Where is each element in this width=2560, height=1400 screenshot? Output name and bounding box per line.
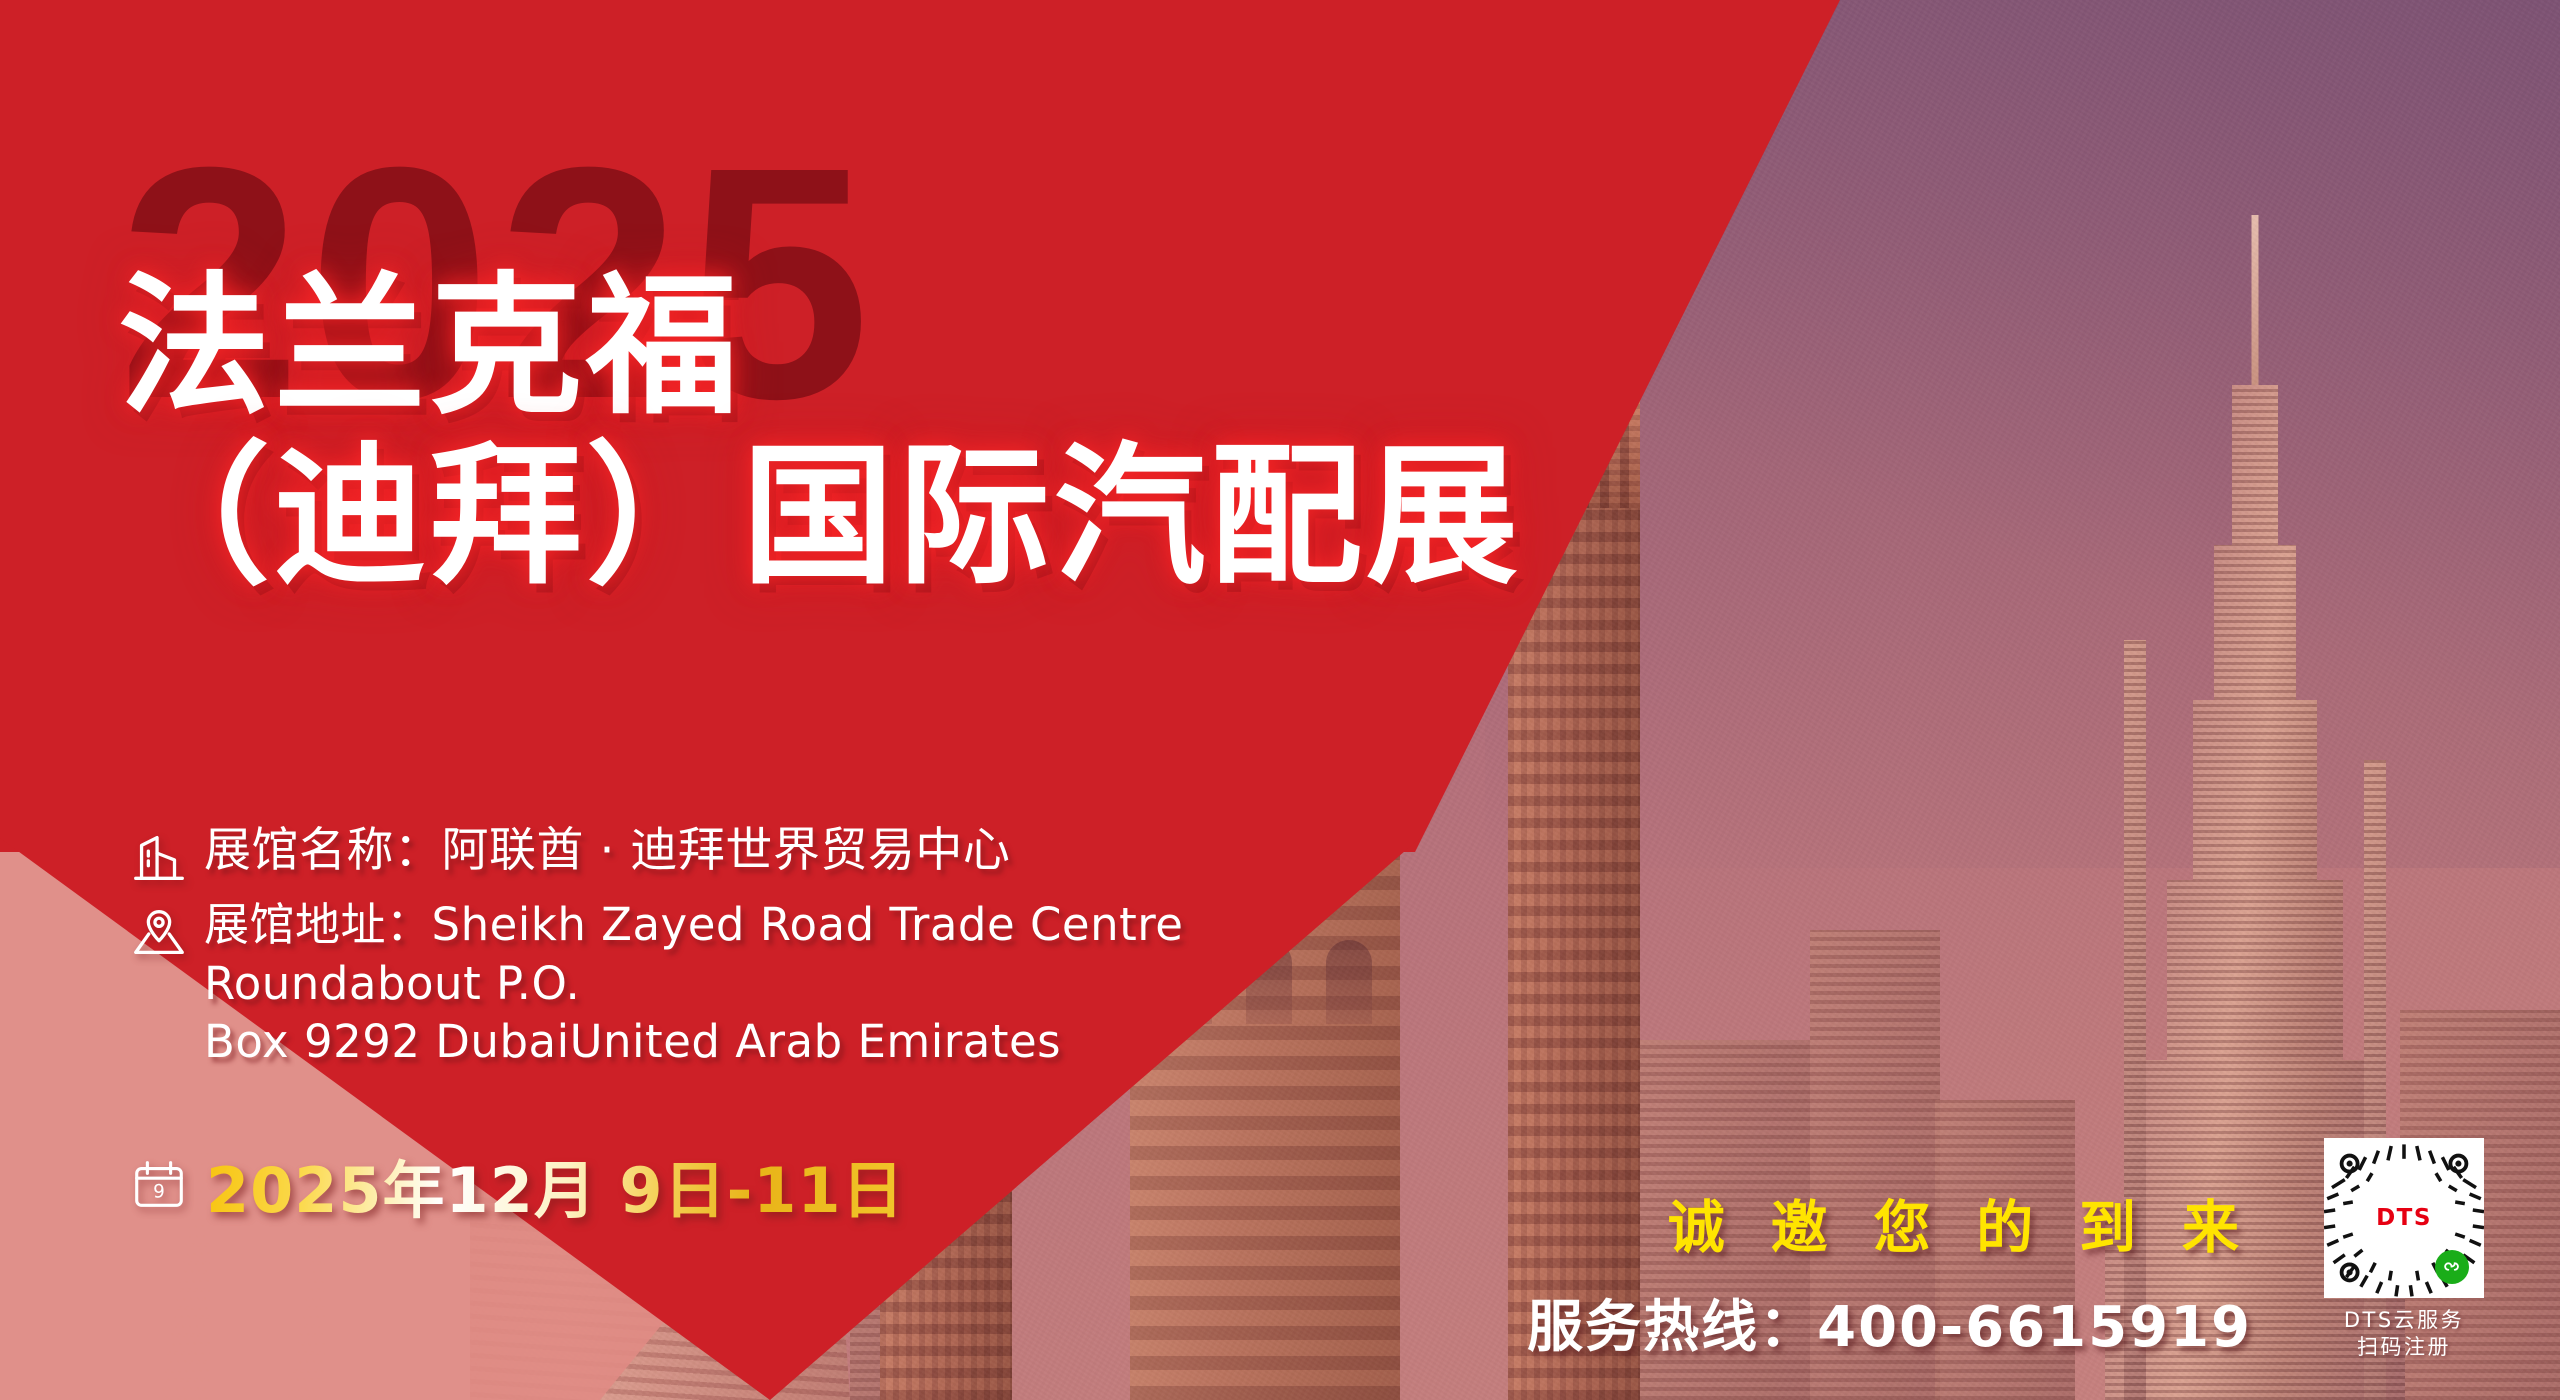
page-title: 法兰克福 （迪拜）国际汽配展 bbox=[118, 268, 1522, 596]
qr-code-block[interactable]: DTS DTS云服务 扫码注册 bbox=[2306, 1138, 2502, 1362]
building-icon bbox=[128, 826, 190, 888]
hotline-text: 服务热线：400-6615919 bbox=[1527, 1282, 2252, 1363]
svg-text:9: 9 bbox=[153, 1182, 165, 1203]
invite-text: 诚 邀 您 的 到 来 bbox=[1527, 1182, 2252, 1264]
event-info-block: 展馆名称：阿联酋 · 迪拜世界贸易中心 展馆地址：Sheikh Zayed Ro… bbox=[128, 820, 1448, 1080]
calendar-icon: 9 bbox=[128, 1154, 190, 1216]
date-row: 9 2025年12月 9日-11日 bbox=[128, 1140, 905, 1230]
qr-caption-line-1: DTS云服务 bbox=[2344, 1308, 2464, 1332]
exhibition-banner: 2025 法兰克福 （迪拜）国际汽配展 展馆名称：阿联酋 · 迪拜世界贸易中心 bbox=[0, 0, 2560, 1400]
call-to-action-block: 诚 邀 您 的 到 来 服务热线：400-6615919 bbox=[1527, 1182, 2252, 1363]
qr-code-image[interactable]: DTS bbox=[2324, 1138, 2484, 1298]
title-line-1: 法兰克福 bbox=[118, 268, 1522, 426]
address-line-2: Box 9292 DubaiUnited Arab Emirates bbox=[204, 1015, 1061, 1068]
qr-caption-line-2: 扫码注册 bbox=[2357, 1335, 2451, 1359]
address-line-1: 展馆地址：Sheikh Zayed Road Trade Centre Roun… bbox=[204, 898, 1183, 1010]
venue-text: 展馆名称：阿联酋 · 迪拜世界贸易中心 bbox=[204, 820, 1010, 881]
map-pin-icon bbox=[128, 902, 190, 964]
title-line-2: （迪拜）国际汽配展 bbox=[118, 438, 1522, 596]
venue-row: 展馆名称：阿联酋 · 迪拜世界贸易中心 bbox=[128, 820, 1448, 888]
qr-caption: DTS云服务 扫码注册 bbox=[2306, 1307, 2502, 1362]
date-text: 2025年12月 9日-11日 bbox=[206, 1140, 905, 1230]
address-text: 展馆地址：Sheikh Zayed Road Trade Centre Roun… bbox=[204, 896, 1448, 1072]
dts-logo: DTS bbox=[2376, 1205, 2432, 1231]
wechat-miniprogram-icon bbox=[2435, 1250, 2469, 1284]
address-row: 展馆地址：Sheikh Zayed Road Trade Centre Roun… bbox=[128, 896, 1448, 1072]
